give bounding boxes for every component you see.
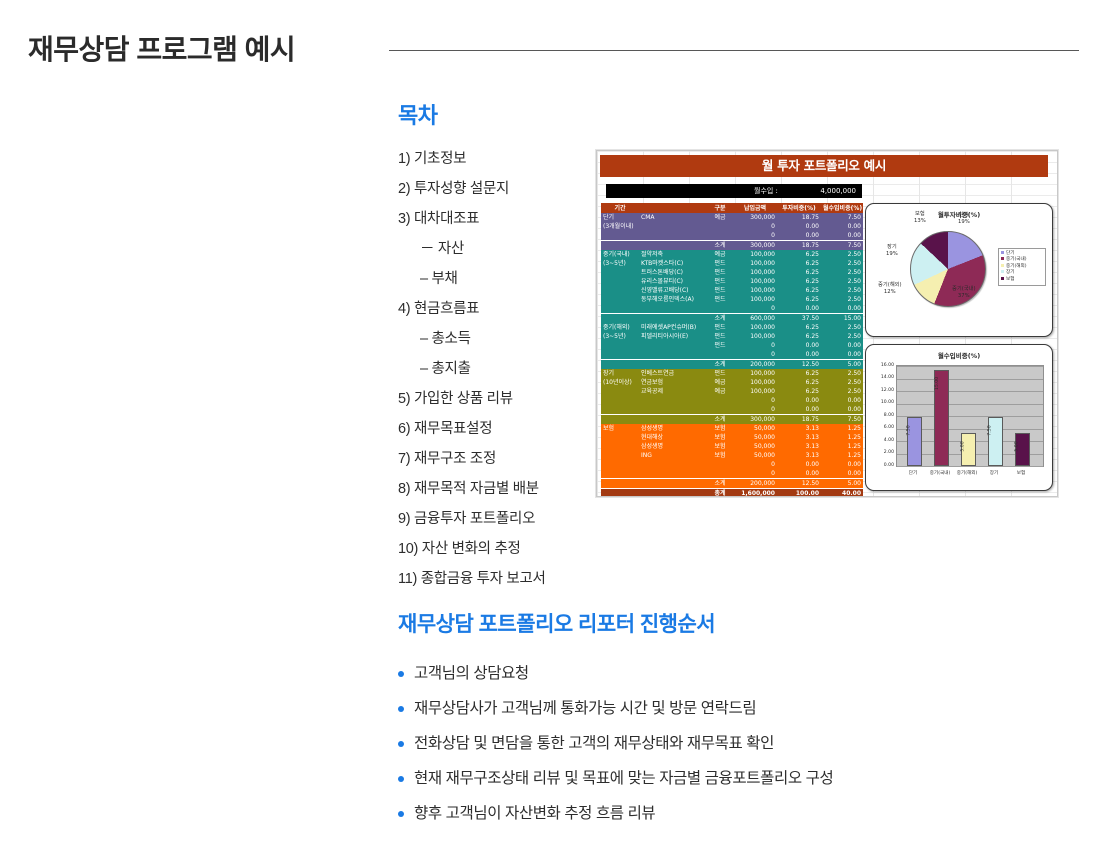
spreadsheet-screenshot: 월 투자 포트폴리오 예시 월수입 : 4,000,000 기간구분납입금액투자… [596, 150, 1058, 497]
table-row: 삼성생명보험50,0003.131.25 [601, 442, 863, 451]
type-cell: 보험 [707, 433, 733, 442]
income-weight-cell: 2.50 [821, 286, 863, 295]
table-row: 00.000.00 [601, 396, 863, 405]
table-row: (3개월이내)00.000.00 [601, 222, 863, 231]
pie-chart-legend: 단기중기(국내)중기(해외)장기보험 [998, 248, 1046, 286]
product-cell: 유리스몰뷰티(C) [639, 277, 707, 286]
table-row: 보험삼성생명보험50,0003.131.25 [601, 424, 863, 433]
amount-cell: 0 [733, 350, 777, 360]
legend-swatch [1001, 264, 1004, 267]
income-weight-cell: 2.50 [821, 378, 863, 387]
legend-label: 단기 [1006, 251, 1014, 256]
subtotal-income-weight: 7.50 [821, 241, 863, 251]
income-weight-cell: 2.50 [821, 250, 863, 259]
amount-cell: 100,000 [733, 259, 777, 268]
period-cell [601, 387, 639, 396]
legend-swatch [1001, 277, 1004, 280]
period-cell: (10년이상) [601, 378, 639, 387]
legend-label: 중기(국내) [1006, 257, 1027, 262]
amount-cell: 100,000 [733, 332, 777, 341]
type-cell: 펀드 [707, 295, 733, 304]
income-weight-cell: 2.50 [821, 332, 863, 341]
invest-weight-cell: 6.25 [777, 277, 821, 286]
pie-chart: 월투자비중(%) 보험13% 단기19% 장기19% 중기(해외)12% 중기(… [865, 203, 1053, 337]
legend-swatch [1001, 270, 1004, 273]
table-row: 교육공제예금100,0006.252.50 [601, 387, 863, 396]
toc-item[interactable]: 11) 종합금융 투자 보고서 [398, 564, 598, 594]
y-tick-label: 2.00 [868, 450, 894, 455]
toc-item[interactable]: 2) 투자성향 설문지 [398, 174, 598, 204]
toc-heading: 목차 [398, 98, 598, 130]
table-row: 중기(국내)절약저축예금100,0006.252.50 [601, 250, 863, 259]
toc-item[interactable]: － 자산 [398, 234, 598, 264]
invest-weight-cell: 6.25 [777, 286, 821, 295]
product-cell: 연금보험 [639, 378, 707, 387]
y-tick-label: 6.00 [868, 425, 894, 430]
column-header: 납입금액 [733, 203, 777, 213]
section-subtotal-row: 소계600,00037.5015.00 [601, 314, 863, 324]
product-cell [639, 405, 707, 415]
subtotal-invest-weight: 12.50 [777, 479, 821, 489]
invest-weight-cell: 6.25 [777, 369, 821, 378]
amount-cell: 0 [733, 469, 777, 479]
income-weight-cell: 0.00 [821, 304, 863, 314]
period-cell [601, 415, 639, 425]
toc-list: 1) 기초정보2) 투자성향 설문지3) 대차대조표－ 자산– 부채4) 현금흐… [398, 144, 598, 594]
pie-label-insurance: 보험13% [914, 211, 926, 224]
invest-weight-cell: 6.25 [777, 332, 821, 341]
product-cell: 피델리티아시아(E) [639, 332, 707, 341]
toc-item[interactable]: – 총소득 [398, 324, 598, 354]
income-weight-cell: 0.00 [821, 231, 863, 241]
amount-cell: 0 [733, 405, 777, 415]
table-row: (3~5년)KTB마켓스타(C)펀드100,0006.252.50 [601, 259, 863, 268]
gridline [897, 404, 1043, 405]
type-cell: 예금 [707, 213, 733, 222]
period-cell [601, 314, 639, 324]
bar-chart-plot [896, 365, 1044, 467]
invest-weight-cell: 0.00 [777, 231, 821, 241]
subtotal-label: 소계 [707, 314, 733, 324]
period-cell: 보험 [601, 424, 639, 433]
table-header-row: 기간구분납입금액투자비중(%)월수입비중(%) [601, 203, 863, 213]
product-cell [639, 489, 707, 498]
product-cell: 동부해오름인덱스(A) [639, 295, 707, 304]
period-cell [601, 341, 639, 350]
table-row: 00.000.00 [601, 304, 863, 314]
y-tick-label: 14.00 [868, 375, 894, 380]
period-cell: (3개월이내) [601, 222, 639, 231]
product-cell: CMA [639, 213, 707, 222]
period-cell [601, 442, 639, 451]
income-weight-cell: 1.25 [821, 442, 863, 451]
amount-cell: 0 [733, 231, 777, 241]
period-cell [601, 350, 639, 360]
amount-cell: 100,000 [733, 268, 777, 277]
legend-swatch [1001, 257, 1004, 260]
y-tick-label: 0.00 [868, 463, 894, 468]
amount-cell: 100,000 [733, 250, 777, 259]
product-cell: 교육공제 [639, 387, 707, 396]
invest-weight-cell: 6.25 [777, 250, 821, 259]
period-cell [601, 396, 639, 405]
column-header: 투자비중(%) [777, 203, 821, 213]
subtotal-label: 소계 [707, 415, 733, 425]
invest-weight-cell: 3.13 [777, 451, 821, 460]
table-row: 단기CMA예금300,00018.757.50 [601, 213, 863, 222]
invest-weight-cell: 0.00 [777, 405, 821, 415]
legend-swatch [1001, 251, 1004, 254]
column-header: 구분 [707, 203, 733, 213]
process-list: 고객님의 상담요청재무상담사가 고객님께 통화가능 시간 및 방문 연락드림전화… [398, 656, 1038, 831]
period-cell: (3~5년) [601, 332, 639, 341]
table-row: (3~5년)피델리티아시아(E)펀드100,0006.252.50 [601, 332, 863, 341]
y-tick-label: 12.00 [868, 388, 894, 393]
amount-cell: 50,000 [733, 451, 777, 460]
section-subtotal-row: 소계200,00012.505.00 [601, 360, 863, 370]
product-cell [639, 479, 707, 489]
subtotal-income-weight: 5.00 [821, 479, 863, 489]
invest-weight-cell: 6.25 [777, 295, 821, 304]
pie-label-long: 장기19% [886, 244, 898, 257]
amount-cell: 0 [733, 222, 777, 231]
type-cell: 펀드 [707, 332, 733, 341]
type-cell: 예금 [707, 250, 733, 259]
bar-chart-title: 월수입비중(%) [866, 350, 1052, 360]
amount-cell: 100,000 [733, 295, 777, 304]
amount-cell: 100,000 [733, 378, 777, 387]
amount-cell: 100,000 [733, 277, 777, 286]
product-cell [639, 341, 707, 350]
income-weight-cell: 2.50 [821, 323, 863, 332]
column-header: 월수입비중(%) [821, 203, 863, 213]
monthly-income-label: 월수입 : [754, 184, 778, 198]
toc-item[interactable]: 6) 재무목표설정 [398, 414, 598, 444]
amount-cell: 100,000 [733, 369, 777, 378]
type-cell: 보험 [707, 424, 733, 433]
invest-weight-cell: 0.00 [777, 222, 821, 231]
period-cell [601, 295, 639, 304]
grand-total-row: 총계1,600,000100.0040.00 [601, 489, 863, 498]
type-cell: 펀드 [707, 259, 733, 268]
column-header [639, 203, 707, 213]
income-weight-cell: 1.25 [821, 433, 863, 442]
y-tick-label: 8.00 [868, 413, 894, 418]
header-divider [389, 50, 1079, 51]
invest-weight-cell: 18.75 [777, 213, 821, 222]
type-cell: 예금 [707, 378, 733, 387]
y-tick-label: 16.00 [868, 363, 894, 368]
income-weight-cell: 2.50 [821, 268, 863, 277]
toc-item[interactable]: – 부채 [398, 264, 598, 294]
toc-item[interactable]: 3) 대차대조표 [398, 204, 598, 234]
amount-cell: 100,000 [733, 286, 777, 295]
toc-item[interactable]: 9) 금융투자 포트폴리오 [398, 504, 598, 534]
type-cell [707, 231, 733, 241]
x-tick-label: 보험 [1005, 470, 1037, 476]
product-cell [639, 314, 707, 324]
spreadsheet-title: 월 투자 포트폴리오 예시 [600, 155, 1048, 177]
monthly-income-bar: 월수입 : 4,000,000 [606, 184, 862, 198]
document-page: 재무상담 프로그램 예시 목차 1) 기초정보2) 투자성향 설문지3) 대차대… [0, 0, 1100, 850]
product-cell: KTB마켓스타(C) [639, 259, 707, 268]
period-cell [601, 231, 639, 241]
invest-weight-cell: 3.13 [777, 442, 821, 451]
income-weight-cell: 2.50 [821, 277, 863, 286]
amount-cell: 0 [733, 341, 777, 350]
table-row: ING보험50,0003.131.25 [601, 451, 863, 460]
table-row: 00.000.00 [601, 405, 863, 415]
toc-item[interactable]: 5) 가입한 상품 리뷰 [398, 384, 598, 414]
product-cell [639, 396, 707, 405]
amount-cell: 50,000 [733, 433, 777, 442]
product-cell: 트러스톤배당(C) [639, 268, 707, 277]
invest-weight-cell: 0.00 [777, 304, 821, 314]
invest-weight-cell: 6.25 [777, 323, 821, 332]
amount-cell: 100,000 [733, 323, 777, 332]
type-cell: 펀드 [707, 268, 733, 277]
income-weight-cell: 0.00 [821, 396, 863, 405]
bar-value-label: 7.50 [988, 426, 993, 436]
period-cell [601, 479, 639, 489]
subtotal-amount: 200,000 [733, 479, 777, 489]
gridline [897, 366, 1043, 367]
type-cell [707, 405, 733, 415]
legend-label: 장기 [1006, 270, 1014, 275]
subtotal-amount: 600,000 [733, 314, 777, 324]
toc-item[interactable]: 1) 기초정보 [398, 144, 598, 174]
amount-cell: 0 [733, 396, 777, 405]
invest-weight-cell: 6.25 [777, 378, 821, 387]
income-weight-cell: 7.50 [821, 213, 863, 222]
income-weight-cell: 1.25 [821, 424, 863, 433]
bar-chart: 월수입비중(%) 16.0014.0012.0010.008.006.004.0… [865, 344, 1053, 491]
legend-label: 중기(해외) [1006, 264, 1027, 269]
gridline [897, 466, 1043, 467]
type-cell: 펀드 [707, 341, 733, 350]
process-item: 고객님의 상담요청 [398, 656, 1038, 691]
product-cell: 절약저축 [639, 250, 707, 259]
subtotal-income-weight: 15.00 [821, 314, 863, 324]
section-subtotal-row: 소계200,00012.505.00 [601, 479, 863, 489]
type-cell: 보험 [707, 451, 733, 460]
table-row: 현대해상보험50,0003.131.25 [601, 433, 863, 442]
income-weight-cell: 2.50 [821, 387, 863, 396]
amount-cell: 0 [733, 460, 777, 469]
type-cell: 펀드 [707, 323, 733, 332]
subtotal-label: 소계 [707, 241, 733, 251]
subtotal-income-weight: 7.50 [821, 415, 863, 425]
period-cell [601, 433, 639, 442]
product-cell [639, 360, 707, 370]
bar-value-label: 7.50 [907, 426, 912, 436]
invest-weight-cell: 6.25 [777, 387, 821, 396]
toc-item[interactable]: 10) 자산 변화의 추정 [398, 534, 598, 564]
table-row: 유리스몰뷰티(C)펀드100,0006.252.50 [601, 277, 863, 286]
invest-weight-cell: 0.00 [777, 341, 821, 350]
grand-total-label: 총계 [707, 489, 733, 498]
income-weight-cell: 2.50 [821, 369, 863, 378]
monthly-income-value: 4,000,000 [820, 184, 856, 198]
gridline [897, 391, 1043, 392]
table-row: 트러스톤배당(C)펀드100,0006.252.50 [601, 268, 863, 277]
process-item: 향후 고객님이 자산변화 추정 흐름 리뷰 [398, 796, 1038, 831]
period-cell [601, 489, 639, 498]
period-cell: (3~5년) [601, 259, 639, 268]
product-cell: 현대해상 [639, 433, 707, 442]
process-heading: 재무상담 포트폴리오 리포터 진행순서 [398, 608, 1038, 638]
product-cell: 인베스트연금 [639, 369, 707, 378]
type-cell: 예금 [707, 387, 733, 396]
invest-weight-cell: 3.13 [777, 424, 821, 433]
pie-label-mid-overseas: 중기(해외)12% [878, 282, 902, 295]
amount-cell: 100,000 [733, 387, 777, 396]
pie-label-mid-domestic: 중기(국내)37% [952, 286, 976, 299]
period-cell: 단기 [601, 213, 639, 222]
portfolio-table: 기간구분납입금액투자비중(%)월수입비중(%)단기CMA예금300,00018.… [601, 203, 863, 497]
invest-weight-cell: 0.00 [777, 460, 821, 469]
period-cell [601, 286, 639, 295]
subtotal-invest-weight: 37.50 [777, 314, 821, 324]
table-row: (10년이상)연금보험예금100,0006.252.50 [601, 378, 863, 387]
table-row: 신영밸류고배당(C)펀드100,0006.252.50 [601, 286, 863, 295]
pie-label-short: 단기19% [958, 212, 970, 225]
period-cell [601, 451, 639, 460]
product-cell: 신영밸류고배당(C) [639, 286, 707, 295]
invest-weight-cell: 0.00 [777, 396, 821, 405]
income-weight-cell: 0.00 [821, 460, 863, 469]
product-cell [639, 460, 707, 469]
invest-weight-cell: 6.25 [777, 259, 821, 268]
product-cell [639, 222, 707, 231]
bar-value-label: 15.00 [935, 377, 940, 390]
table-row: 장기인베스트연금펀드100,0006.252.50 [601, 369, 863, 378]
table-of-contents: 목차 1) 기초정보2) 투자성향 설문지3) 대차대조표－ 자산– 부채4) … [398, 98, 598, 594]
period-cell [601, 304, 639, 314]
subtotal-amount: 200,000 [733, 360, 777, 370]
toc-item[interactable]: 8) 재무목적 자금별 배분 [398, 474, 598, 504]
process-item: 현재 재무구조상태 리뷰 및 목표에 맞는 자금별 금융포트폴리오 구성 [398, 761, 1038, 796]
subtotal-invest-weight: 18.75 [777, 415, 821, 425]
table-row: 00.000.00 [601, 469, 863, 479]
legend-label: 보험 [1006, 277, 1014, 282]
column-header: 기간 [601, 203, 639, 213]
type-cell [707, 304, 733, 314]
subtotal-invest-weight: 18.75 [777, 241, 821, 251]
y-tick-label: 10.00 [868, 400, 894, 405]
amount-cell: 50,000 [733, 442, 777, 451]
period-cell [601, 469, 639, 479]
process-item: 전화상담 및 면담을 통한 고객의 재무상태와 재무목표 확인 [398, 726, 1038, 761]
income-weight-cell: 0.00 [821, 341, 863, 350]
grand-total-invest-weight: 100.00 [777, 489, 821, 498]
table-row: 중기(해외)미래에셋AP컨슈머(B)펀드100,0006.252.50 [601, 323, 863, 332]
period-cell [601, 360, 639, 370]
income-weight-cell: 0.00 [821, 405, 863, 415]
type-cell [707, 396, 733, 405]
type-cell [707, 460, 733, 469]
toc-item[interactable]: – 총지출 [398, 354, 598, 384]
product-cell [639, 469, 707, 479]
product-cell [639, 304, 707, 314]
section-subtotal-row: 소계300,00018.757.50 [601, 415, 863, 425]
invest-weight-cell: 6.25 [777, 268, 821, 277]
subtotal-invest-weight: 12.50 [777, 360, 821, 370]
subtotal-label: 소계 [707, 479, 733, 489]
product-cell: 삼성생명 [639, 424, 707, 433]
process-section: 재무상담 포트폴리오 리포터 진행순서 고객님의 상담요청재무상담사가 고객님께… [398, 608, 1038, 831]
income-weight-cell: 1.25 [821, 451, 863, 460]
legend-item: 보험 [1001, 277, 1043, 283]
period-cell: 중기(국내) [601, 250, 639, 259]
period-cell [601, 268, 639, 277]
type-cell [707, 222, 733, 231]
toc-item[interactable]: 7) 재무구조 조정 [398, 444, 598, 474]
period-cell [601, 277, 639, 286]
table-row: 00.000.00 [601, 231, 863, 241]
period-cell [601, 405, 639, 415]
income-weight-cell: 2.50 [821, 259, 863, 268]
subtotal-income-weight: 5.00 [821, 360, 863, 370]
type-cell [707, 469, 733, 479]
bar-value-label: 5.00 [1015, 441, 1020, 451]
product-cell [639, 350, 707, 360]
table-row: 펀드00.000.00 [601, 341, 863, 350]
type-cell [707, 350, 733, 360]
period-cell: 장기 [601, 369, 639, 378]
type-cell: 펀드 [707, 369, 733, 378]
income-weight-cell: 0.00 [821, 469, 863, 479]
product-cell: 삼성생명 [639, 442, 707, 451]
income-weight-cell: 2.50 [821, 295, 863, 304]
invest-weight-cell: 0.00 [777, 469, 821, 479]
product-cell [639, 415, 707, 425]
gridline [897, 379, 1043, 380]
y-tick-label: 4.00 [868, 438, 894, 443]
subtotal-label: 소계 [707, 360, 733, 370]
product-cell: ING [639, 451, 707, 460]
type-cell: 펀드 [707, 277, 733, 286]
type-cell: 보험 [707, 442, 733, 451]
period-cell [601, 460, 639, 469]
subtotal-amount: 300,000 [733, 241, 777, 251]
income-weight-cell: 0.00 [821, 350, 863, 360]
section-subtotal-row: 소계300,00018.757.50 [601, 241, 863, 251]
grand-total-amount: 1,600,000 [733, 489, 777, 498]
process-item: 재무상담사가 고객님께 통화가능 시간 및 방문 연락드림 [398, 691, 1038, 726]
table-row: 00.000.00 [601, 350, 863, 360]
grand-total-income-weight: 40.00 [821, 489, 863, 498]
period-cell [601, 241, 639, 251]
invest-weight-cell: 3.13 [777, 433, 821, 442]
table-row: 동부해오름인덱스(A)펀드100,0006.252.50 [601, 295, 863, 304]
amount-cell: 300,000 [733, 213, 777, 222]
product-cell [639, 241, 707, 251]
income-weight-cell: 0.00 [821, 222, 863, 231]
table-row: 00.000.00 [601, 460, 863, 469]
subtotal-amount: 300,000 [733, 415, 777, 425]
invest-weight-cell: 0.00 [777, 350, 821, 360]
type-cell: 펀드 [707, 286, 733, 295]
product-cell: 미래에셋AP컨슈머(B) [639, 323, 707, 332]
amount-cell: 0 [733, 304, 777, 314]
toc-item[interactable]: 4) 현금흐름표 [398, 294, 598, 324]
product-cell [639, 231, 707, 241]
amount-cell: 50,000 [733, 424, 777, 433]
bar-value-label: 5.00 [961, 441, 966, 451]
period-cell: 중기(해외) [601, 323, 639, 332]
page-title: 재무상담 프로그램 예시 [28, 28, 295, 68]
